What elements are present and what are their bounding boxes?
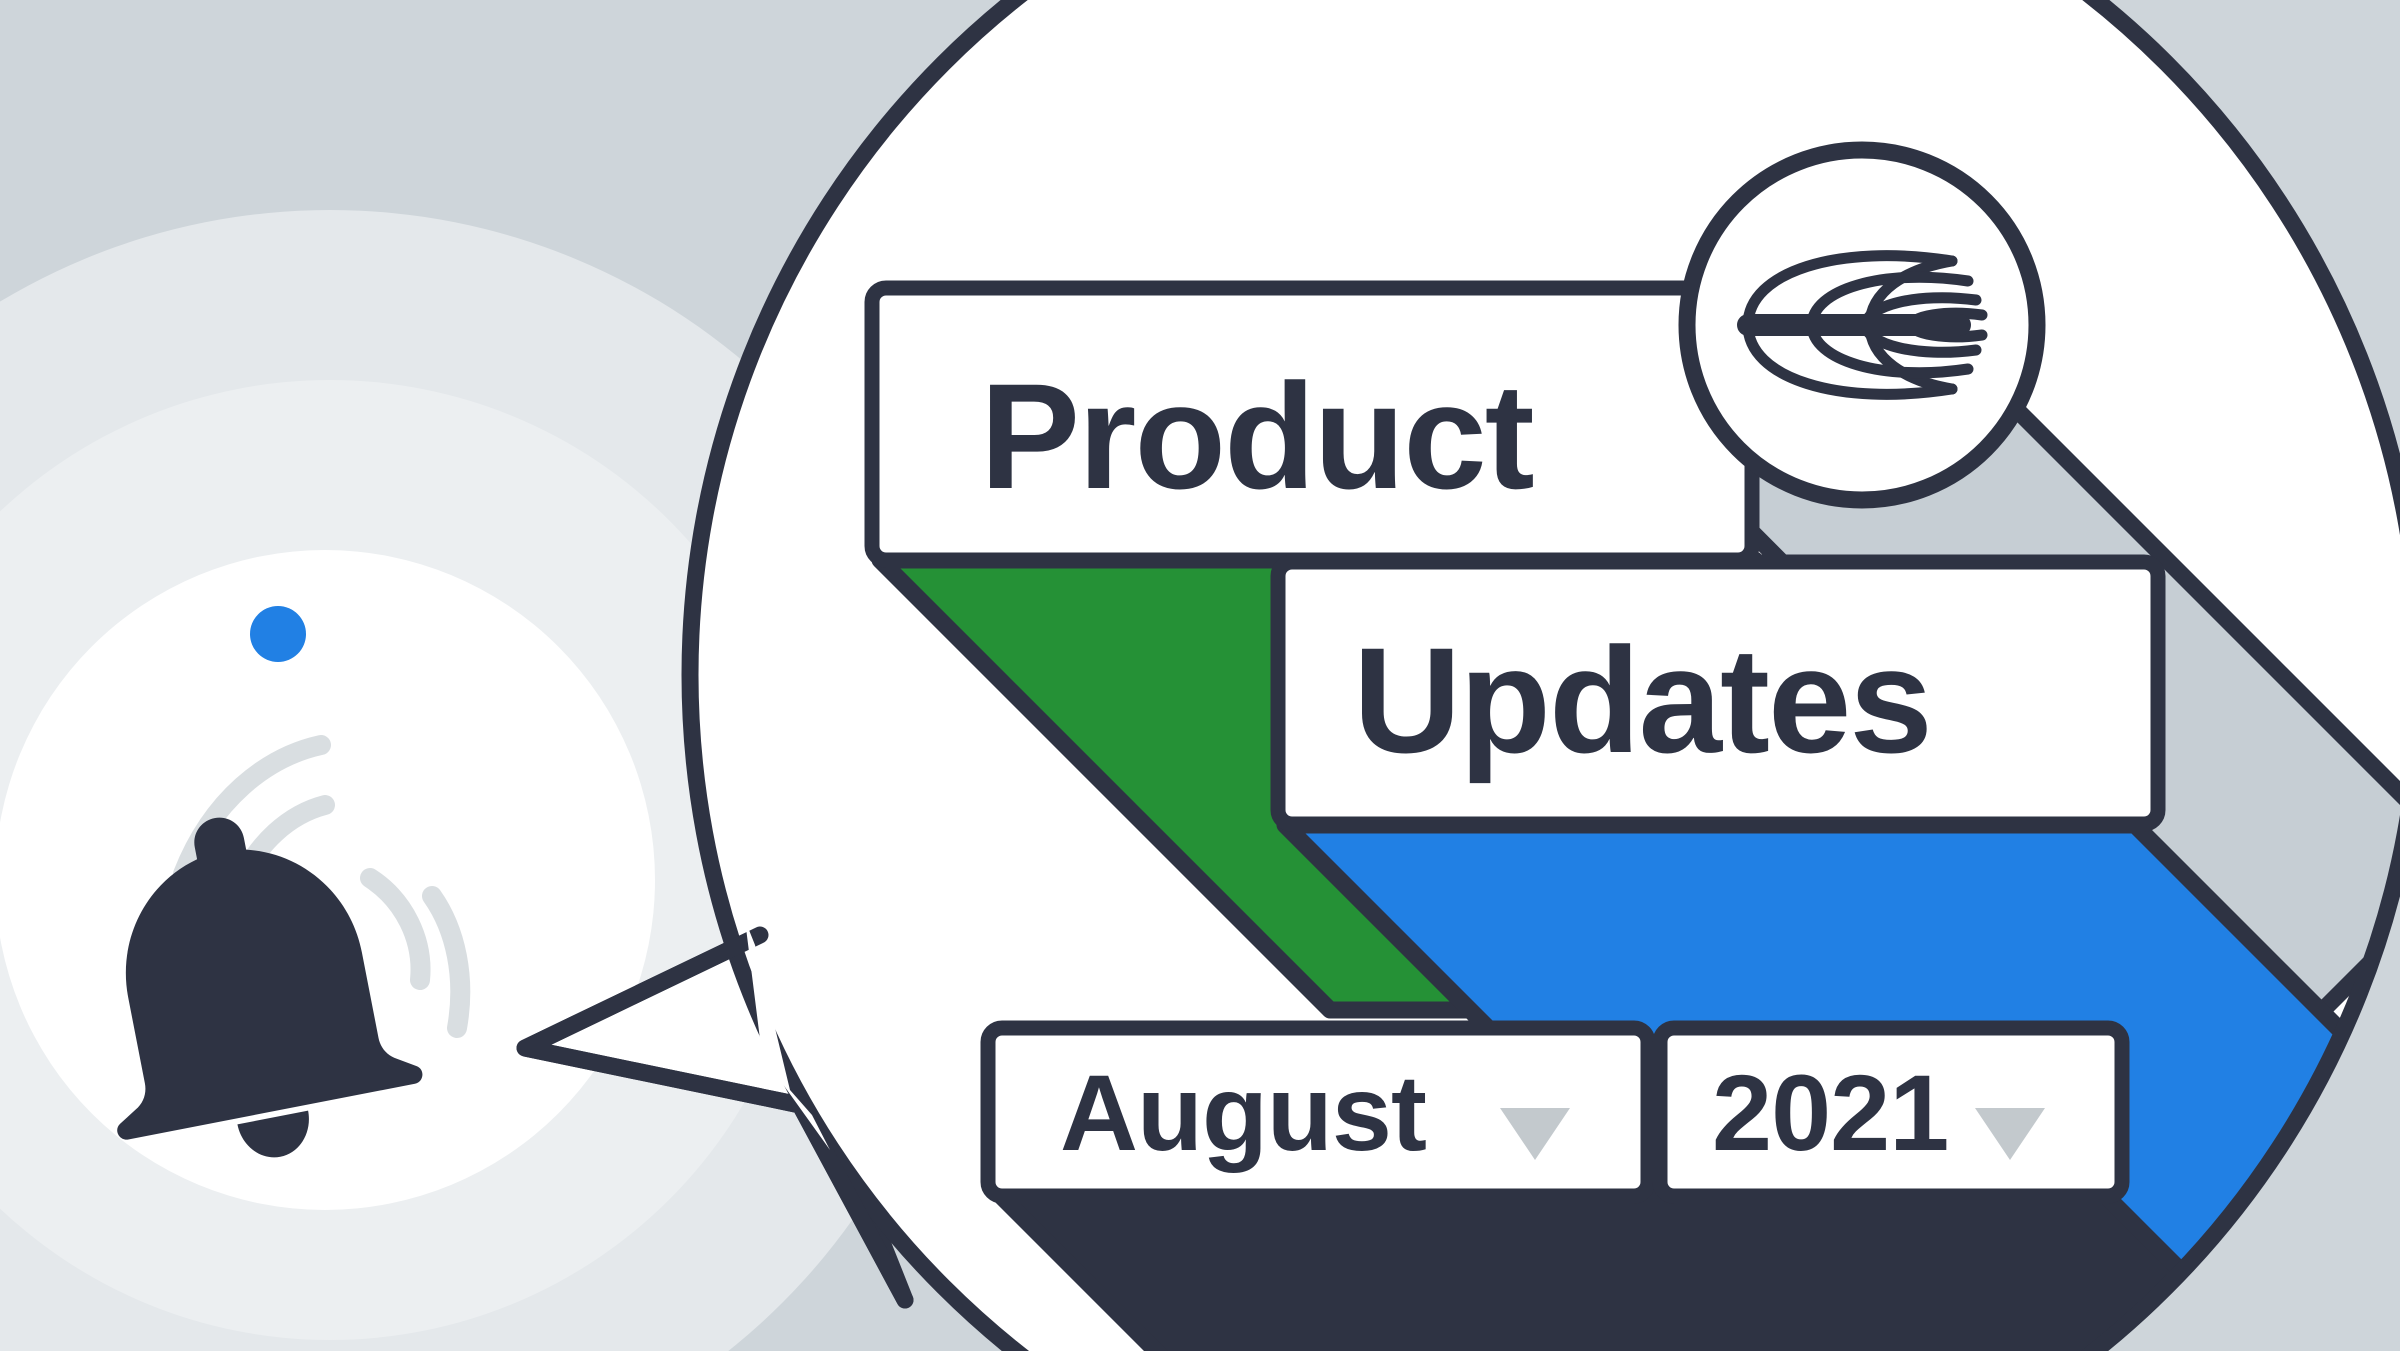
headline-line-1: Product bbox=[980, 352, 1534, 520]
month-dropdown[interactable]: August bbox=[988, 1028, 1648, 1196]
notification-dot-icon[interactable] bbox=[250, 606, 306, 662]
year-dropdown-value: 2021 bbox=[1712, 1052, 1948, 1173]
headline-plate-updates: Updates bbox=[1278, 562, 2158, 824]
headline-line-2: Updates bbox=[1353, 616, 1931, 784]
year-dropdown[interactable]: 2021 bbox=[1660, 1028, 2122, 1196]
headline-plate-product: Product bbox=[872, 288, 1752, 560]
product-updates-banner: Product Updates August 2021 bbox=[0, 0, 2400, 1351]
banner-illustration: Product Updates August 2021 bbox=[0, 0, 2400, 1351]
month-dropdown-value: August bbox=[1060, 1052, 1426, 1173]
brand-logo-badge[interactable] bbox=[1687, 150, 2037, 500]
